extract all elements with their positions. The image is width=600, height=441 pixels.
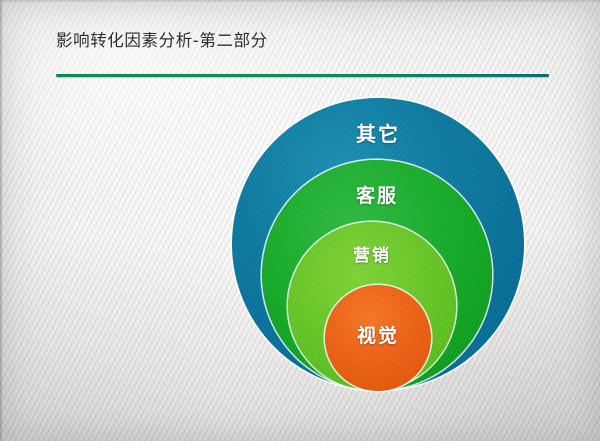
page-title: 影响转化因素分析-第二部分 [56,27,268,51]
circle-label-visual: 视觉 [325,321,431,348]
title-divider [56,74,549,77]
circle-layer-visual[interactable]: 视觉 [325,285,431,391]
slide-photo: 影响转化因素分析-第二部分 其它 客服 营销 视觉 [0,0,600,441]
